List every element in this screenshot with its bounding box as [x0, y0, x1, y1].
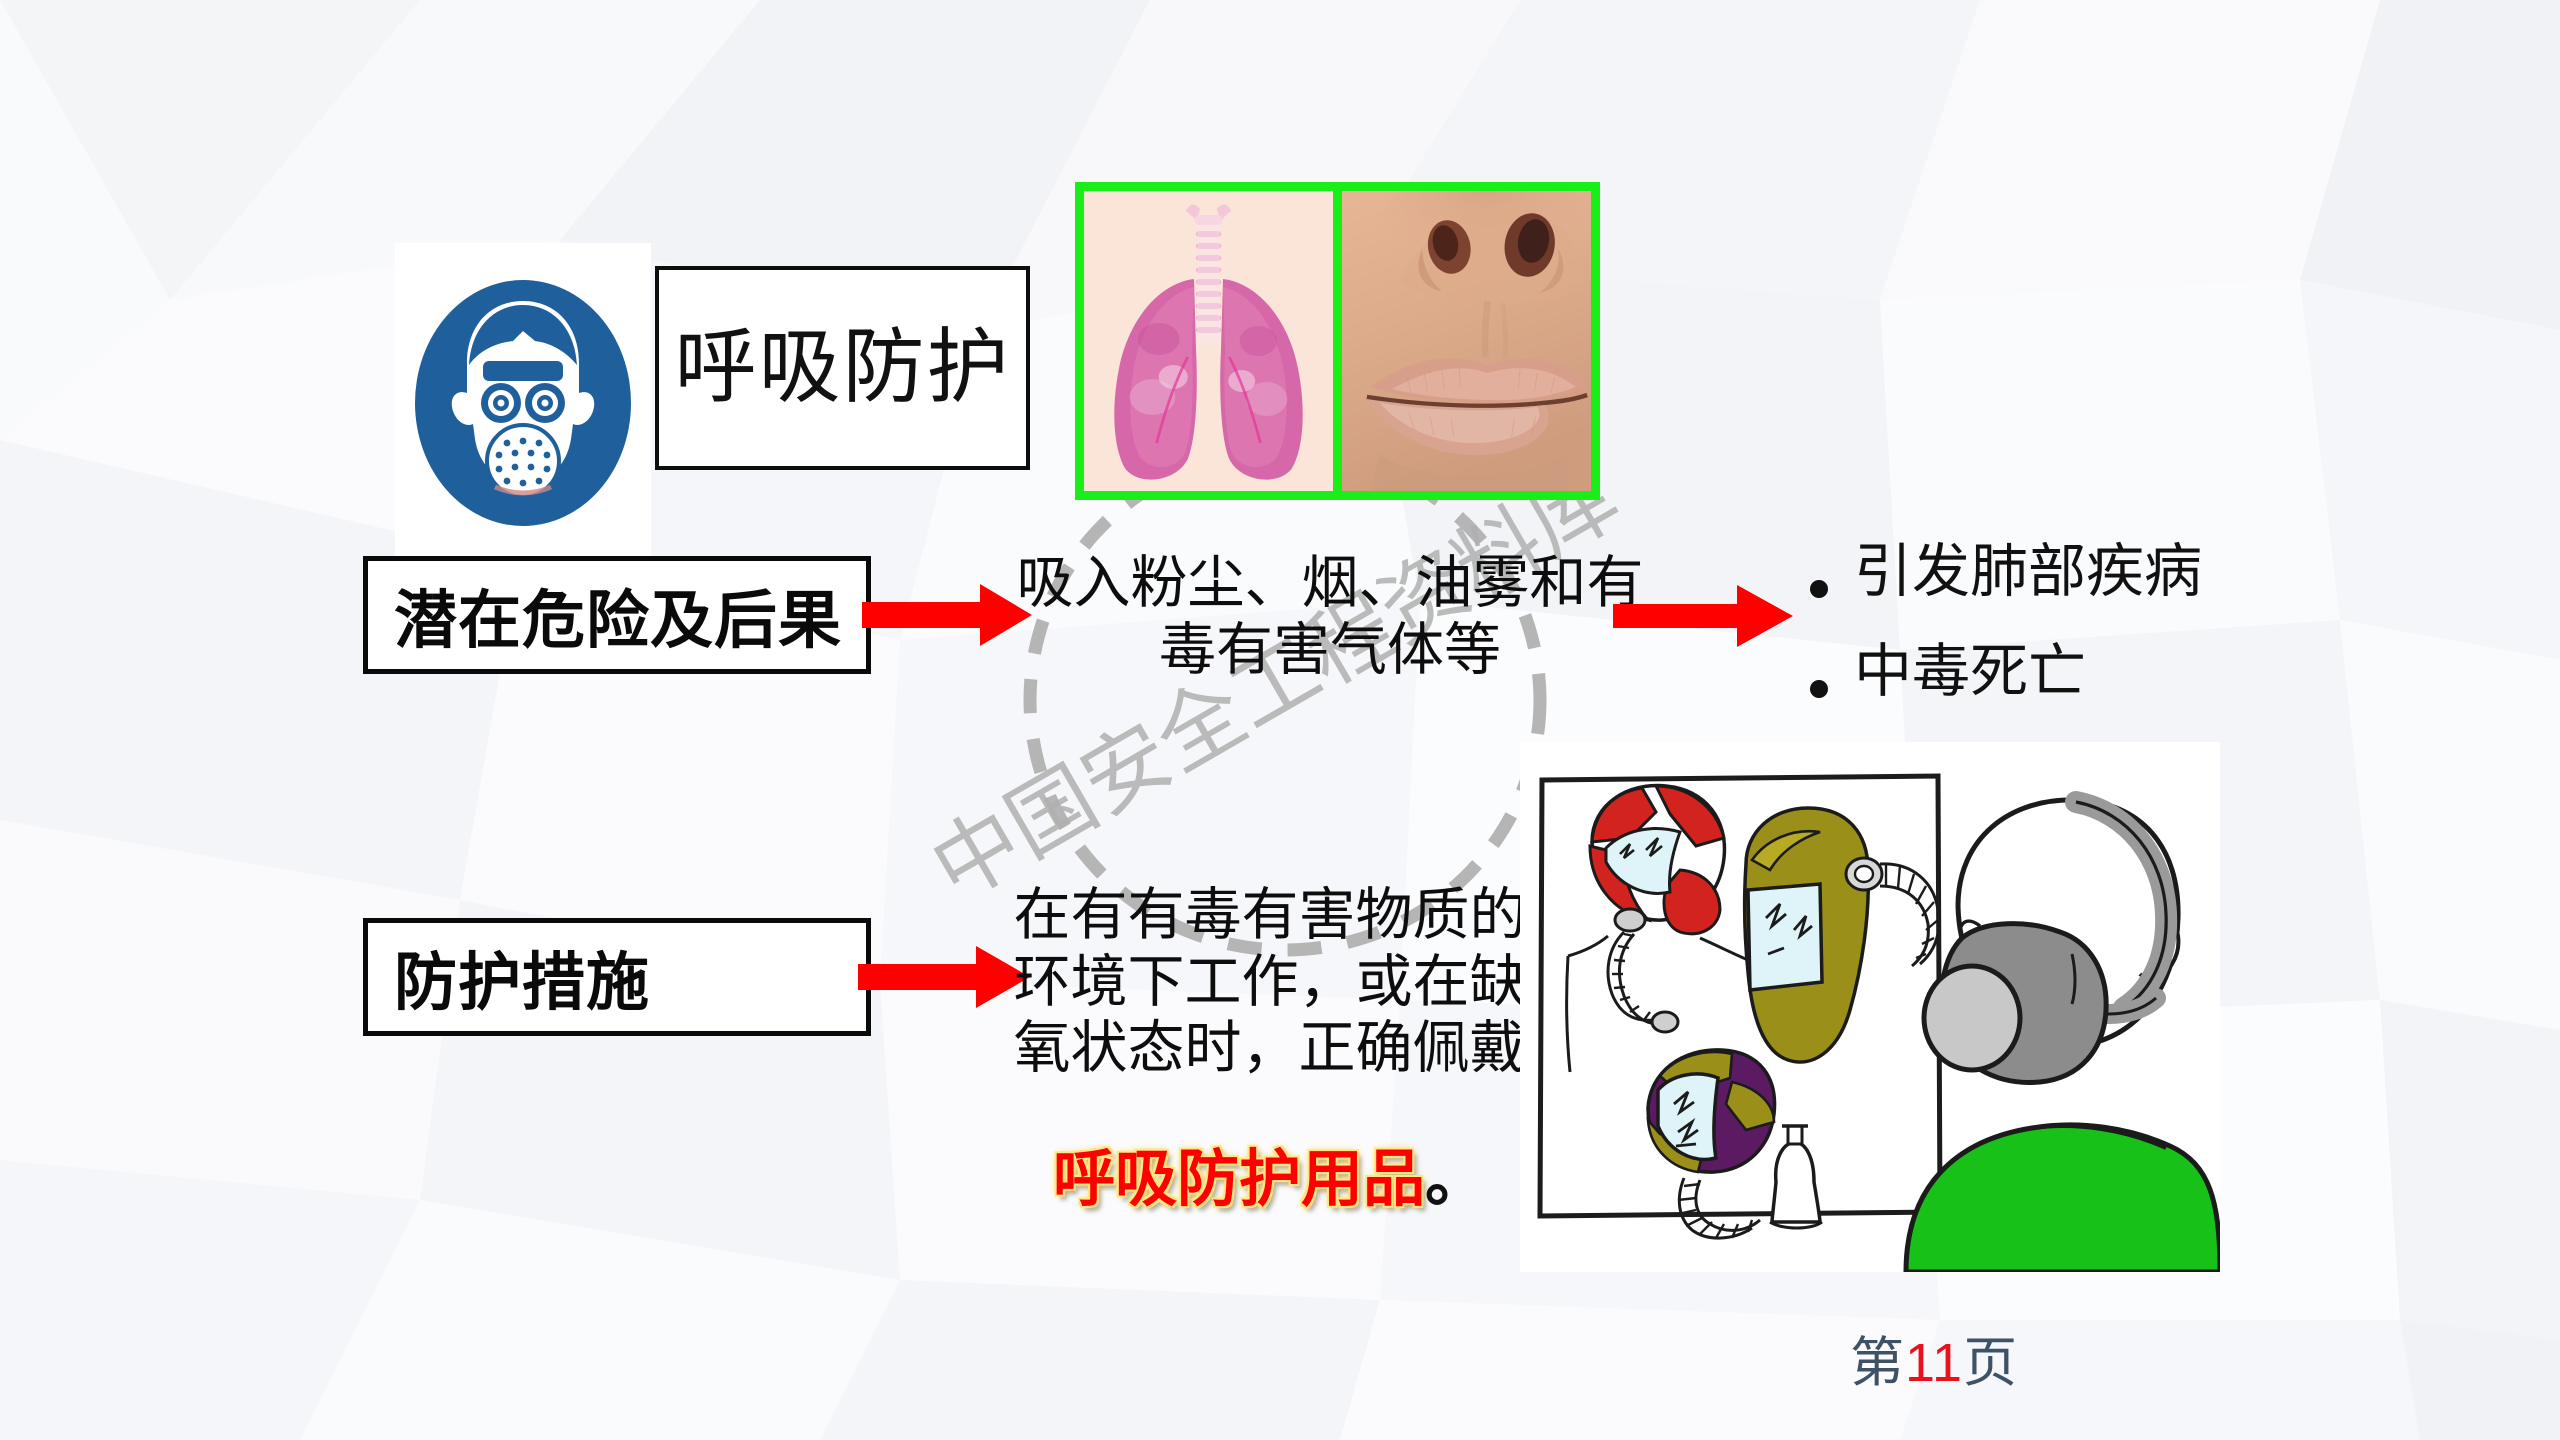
- slide-canvas: 中国安全工程资料库: [0, 0, 2560, 1440]
- consequence-list: 引发肺部疾病 中毒死亡: [1810, 540, 2450, 740]
- health-photo-pair: [1075, 182, 1600, 500]
- measure-emphasis: 呼吸防护用品。: [990, 1146, 1550, 1214]
- hazard-label-box: 潜在危险及后果: [363, 556, 871, 674]
- respirator-types-illustration: [1520, 742, 2220, 1272]
- nose-mouth-photo: [1342, 191, 1591, 491]
- measure-emphasis-period: 。: [1425, 1145, 1487, 1214]
- arrow-description-to-consequences-icon: [1613, 580, 1793, 652]
- page-number: 第11页: [1850, 1318, 2018, 1397]
- hazard-label: 潜在危险及后果: [368, 570, 842, 661]
- consequence-label: 引发肺部疾病: [1854, 540, 2202, 604]
- arrow-hazard-to-description-icon: [862, 580, 1032, 650]
- page-title: 呼吸防护: [674, 327, 1010, 409]
- consequence-label: 中毒死亡: [1854, 640, 2086, 704]
- respirator-mandatory-sign-icon: [395, 243, 651, 561]
- measure-description: 在有有毒有害物质的 环境下工作，或在缺 氧状态时，正确佩戴: [990, 882, 1550, 1082]
- bullet-dot-icon: [1810, 680, 1828, 698]
- measure-emphasis-text: 呼吸防护用品: [1053, 1145, 1425, 1214]
- page-number-suffix: 页: [1963, 1333, 2018, 1393]
- list-item: 中毒死亡: [1810, 640, 2450, 704]
- page-number-value: 11: [1905, 1333, 1963, 1393]
- title-box: 呼吸防护: [655, 266, 1030, 470]
- hazard-description: 吸入粉尘、烟、油雾和有 毒有害气体等: [1010, 550, 1650, 683]
- measure-label-box: 防护措施: [363, 918, 871, 1036]
- measure-label: 防护措施: [368, 932, 650, 1023]
- page-number-prefix: 第: [1850, 1333, 1905, 1393]
- lungs-photo: [1084, 191, 1333, 491]
- bullet-dot-icon: [1810, 580, 1828, 598]
- list-item: 引发肺部疾病: [1810, 540, 2450, 604]
